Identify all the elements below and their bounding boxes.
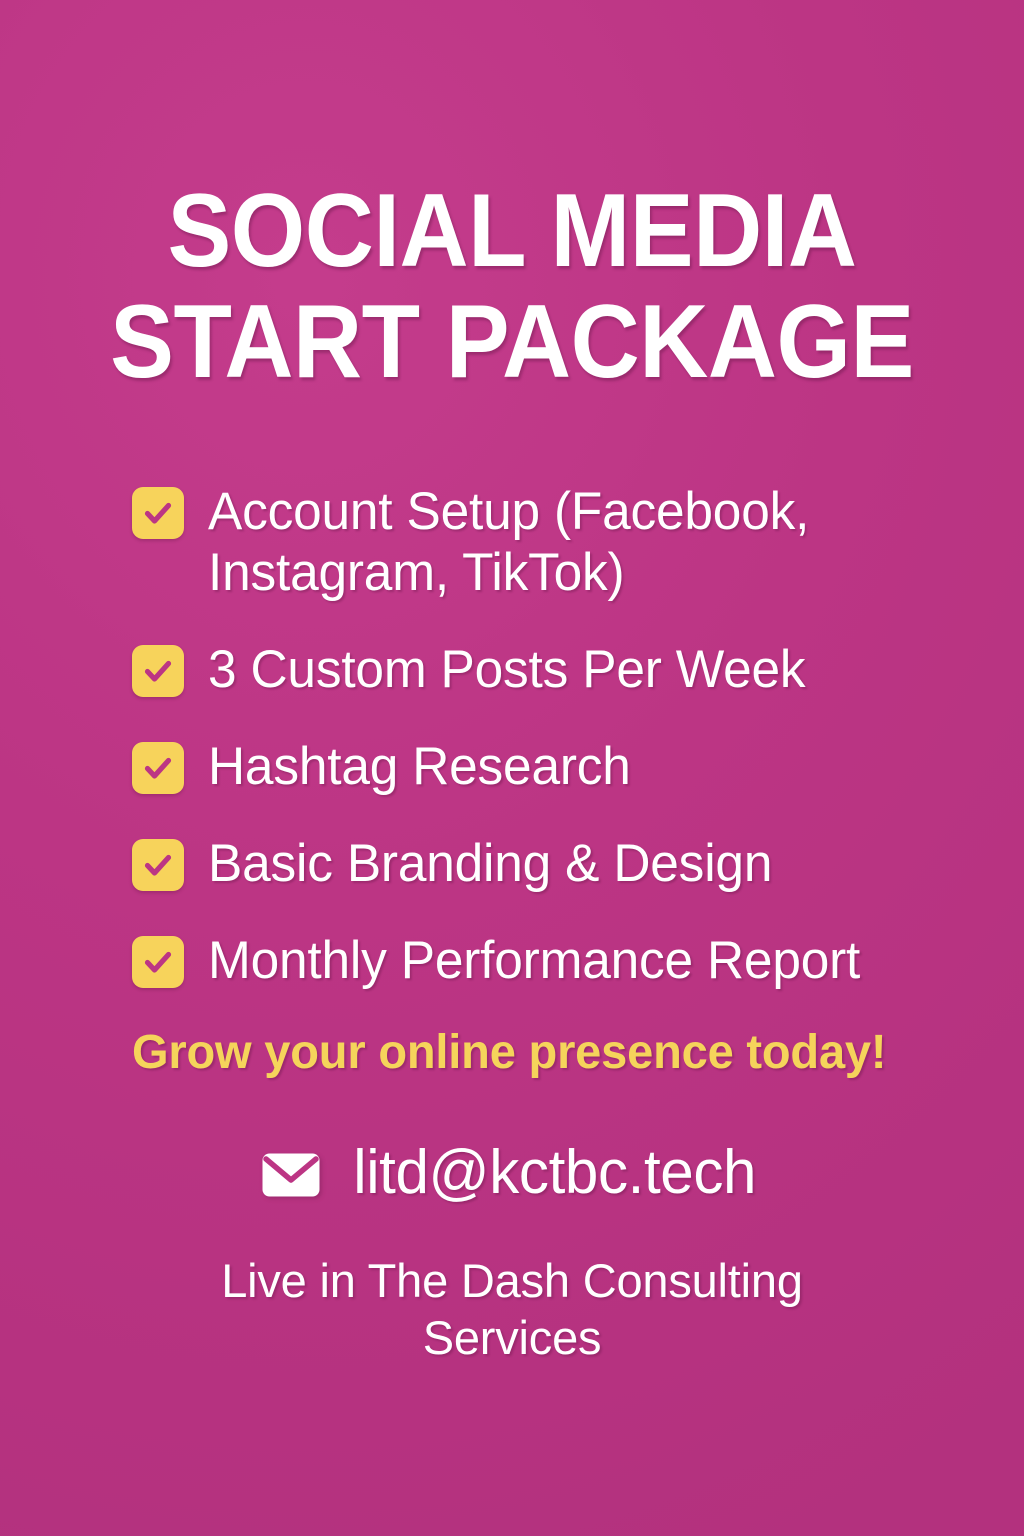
envelope-icon	[261, 1152, 321, 1198]
poster-canvas: SOCIAL MEDIA START PACKAGE Account Setup…	[0, 0, 1024, 1536]
check-mark-icon	[132, 487, 184, 539]
list-item: 3 Custom Posts Per Week	[132, 640, 962, 701]
contact-row: litd@kctbc.tech	[0, 1142, 1024, 1204]
list-item: Basic Branding & Design	[132, 834, 962, 895]
feature-checklist: Account Setup (Facebook, Instagram, TikT…	[132, 482, 962, 992]
email-address[interactable]: litd@kctbc.tech	[354, 1142, 757, 1204]
check-mark-icon	[132, 936, 184, 988]
list-item-label: Hashtag Research	[208, 737, 631, 798]
list-item-label: Account Setup (Facebook, Instagram, TikT…	[208, 482, 939, 604]
list-item: Account Setup (Facebook, Instagram, TikT…	[132, 482, 962, 604]
check-mark-icon	[132, 645, 184, 697]
check-mark-icon	[132, 839, 184, 891]
list-item-label: Basic Branding & Design	[208, 834, 772, 895]
company-name-line-1: Live in The Dash Consulting	[221, 1254, 803, 1307]
check-mark-icon	[132, 742, 184, 794]
title-line-2: START PACKAGE	[96, 287, 928, 398]
list-item: Monthly Performance Report	[132, 931, 962, 992]
list-item-label: 3 Custom Posts Per Week	[208, 640, 805, 701]
tagline-text: Grow your online presence today!	[132, 1027, 886, 1080]
list-item: Hashtag Research	[132, 737, 962, 798]
list-item-label: Monthly Performance Report	[208, 931, 860, 992]
title-line-1: SOCIAL MEDIA	[96, 176, 928, 287]
poster-title: SOCIAL MEDIA START PACKAGE	[0, 176, 1024, 399]
company-name: Live in The Dash Consulting Services	[0, 1252, 1024, 1367]
company-name-line-2: Services	[423, 1311, 602, 1364]
